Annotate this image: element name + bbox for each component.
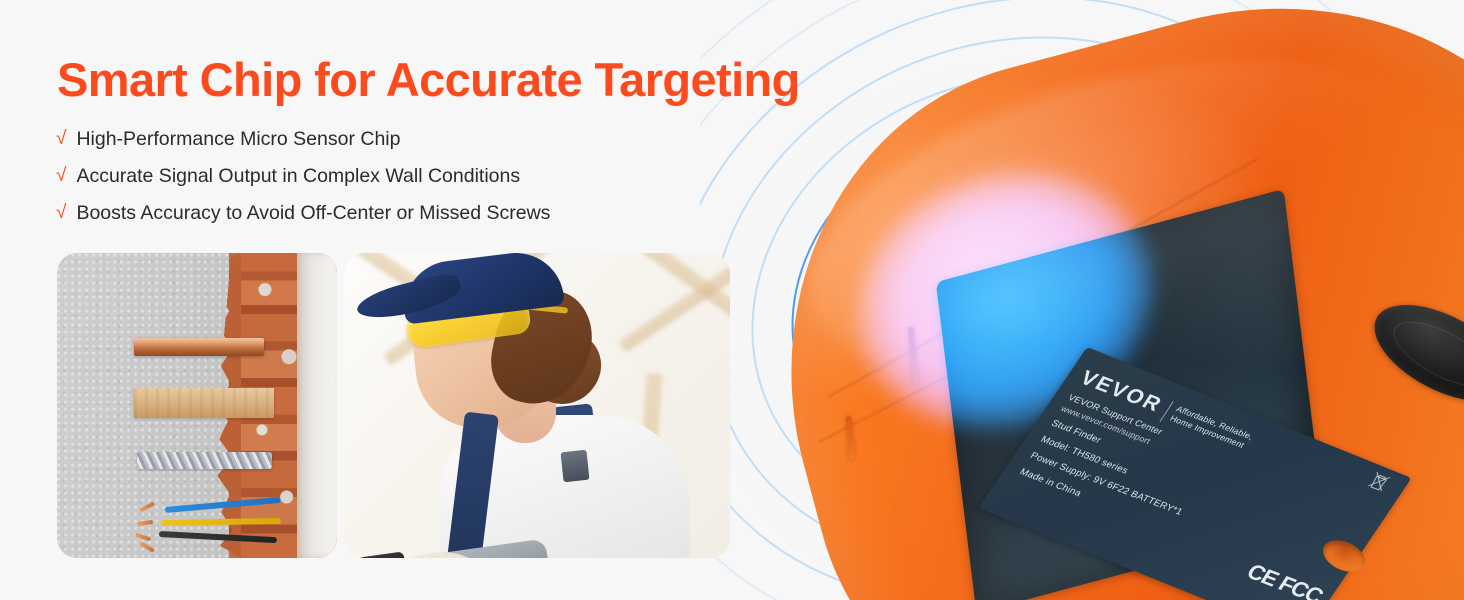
photo-strip [57, 253, 730, 558]
list-item-label: Accurate Signal Output in Complex Wall C… [76, 164, 520, 189]
worker-figure [344, 253, 730, 558]
copper-pipe [134, 338, 264, 356]
list-item-label: High-Performance Micro Sensor Chip [76, 127, 400, 152]
worker-photo [344, 253, 730, 558]
wall-cutaway-photo [57, 253, 337, 558]
electrical-wires [131, 501, 281, 549]
list-item: √ High-Performance Micro Sensor Chip [56, 127, 696, 152]
page-title: Smart Chip for Accurate Targeting [57, 52, 800, 107]
list-item: √ Boosts Accuracy to Avoid Off-Center or… [56, 201, 696, 226]
list-item-label: Boosts Accuracy to Avoid Off-Center or M… [76, 201, 550, 226]
wire-black [159, 531, 277, 543]
checkmark-icon: √ [56, 203, 66, 222]
checkmark-icon: √ [56, 166, 66, 185]
list-item: √ Accurate Signal Output in Complex Wall… [56, 164, 696, 189]
wire-yellow [161, 518, 281, 526]
overall-buckle [561, 450, 590, 483]
promo-banner: VEVOR Affordable, Reliable, Home Improve… [0, 0, 1464, 600]
checkmark-icon: √ [56, 129, 66, 148]
wire-copper-strand [135, 533, 151, 542]
plaster-layer [297, 253, 337, 558]
feature-list: √ High-Performance Micro Sensor Chip √ A… [56, 127, 696, 238]
wood-stud [134, 388, 274, 418]
wire-copper-strand [137, 520, 153, 526]
steel-rebar [137, 452, 272, 469]
wire-copper-strand [139, 502, 155, 513]
drill-chuck [350, 551, 408, 558]
